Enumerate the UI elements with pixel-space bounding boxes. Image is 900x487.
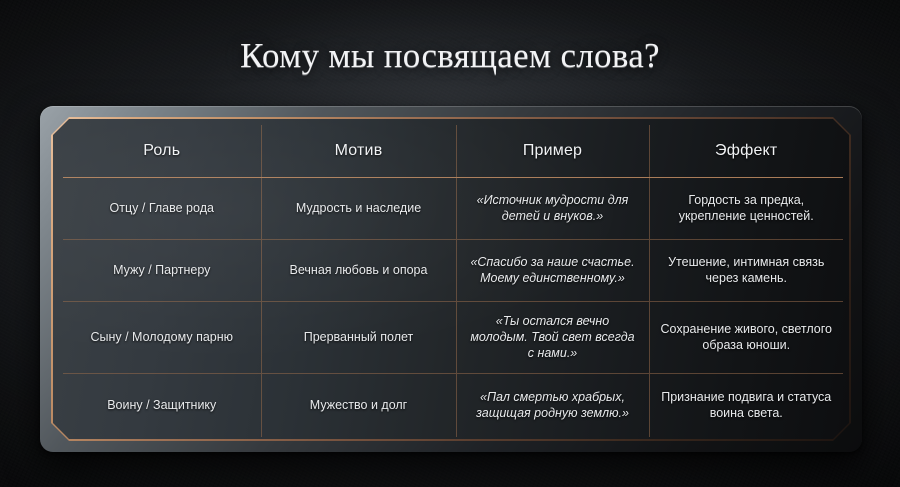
comparison-table: Роль Мотив Пример Эффект Отцу / Главе ро… <box>63 125 843 437</box>
cell-role: Мужу / Партнеру <box>63 239 261 301</box>
table-row: Отцу / Главе рода Мудрость и наследие «И… <box>63 177 843 239</box>
cell-motive: Прерванный полет <box>261 301 456 373</box>
cell-text: «Спасибо за наше счастье. Моему единстве… <box>467 254 639 286</box>
cell-role: Сыну / Молодому парню <box>63 301 261 373</box>
cell-text: Мужество и долг <box>272 397 446 413</box>
table-body: Отцу / Главе рода Мудрость и наследие «И… <box>63 177 843 437</box>
table-plaque-frame: Роль Мотив Пример Эффект Отцу / Главе ро… <box>40 106 862 452</box>
table-header-row: Роль Мотив Пример Эффект <box>63 125 843 177</box>
table-row: Воину / Защитнику Мужество и долг «Пал с… <box>63 373 843 437</box>
cell-example: «Источник мудрости для детей и внуков.» <box>456 177 649 239</box>
cell-role: Отцу / Главе рода <box>63 177 261 239</box>
column-header-example: Пример <box>456 125 649 177</box>
cell-text: Мудрость и наследие <box>272 200 446 216</box>
cell-motive: Мужество и долг <box>261 373 456 437</box>
cell-example: «Ты остался вечно молодым. Твой свет все… <box>456 301 649 373</box>
cell-example: «Спасибо за наше счастье. Моему единстве… <box>456 239 649 301</box>
cell-text: Гордость за предка, укрепление ценностей… <box>660 192 834 224</box>
cell-text: Сохранение живого, светлого образа юноши… <box>660 321 834 353</box>
cell-effect: Гордость за предка, укрепление ценностей… <box>649 177 843 239</box>
column-header-effect: Эффект <box>649 125 843 177</box>
page-title: Кому мы посвящаем слова? <box>0 34 900 78</box>
cell-text: Отцу / Главе рода <box>73 200 251 216</box>
cell-effect: Утешение, интимная связь через камень. <box>649 239 843 301</box>
cell-text: «Пал смертью храбрых, защищая родную зем… <box>467 389 639 421</box>
column-header-motive: Мотив <box>261 125 456 177</box>
column-header-role: Роль <box>63 125 261 177</box>
cell-effect: Признание подвига и статуса воина света. <box>649 373 843 437</box>
cell-text: Утешение, интимная связь через камень. <box>660 254 834 286</box>
cell-text: Признание подвига и статуса воина света. <box>660 389 834 421</box>
cell-text: Вечная любовь и опора <box>272 262 446 278</box>
cell-motive: Вечная любовь и опора <box>261 239 456 301</box>
cell-motive: Мудрость и наследие <box>261 177 456 239</box>
cell-text: «Ты остался вечно молодым. Твой свет все… <box>467 313 639 361</box>
table-row: Сыну / Молодому парню Прерванный полет «… <box>63 301 843 373</box>
cell-text: «Источник мудрости для детей и внуков.» <box>467 192 639 224</box>
cell-example: «Пал смертью храбрых, защищая родную зем… <box>456 373 649 437</box>
cell-role: Воину / Защитнику <box>63 373 261 437</box>
table-header: Роль Мотив Пример Эффект <box>63 125 843 177</box>
cell-text: Сыну / Молодому парню <box>73 329 251 345</box>
cell-effect: Сохранение живого, светлого образа юноши… <box>649 301 843 373</box>
copper-inner-border: Роль Мотив Пример Эффект Отцу / Главе ро… <box>51 117 851 441</box>
cell-text: Воину / Защитнику <box>73 397 251 413</box>
table-row: Мужу / Партнеру Вечная любовь и опора «С… <box>63 239 843 301</box>
cell-text: Мужу / Партнеру <box>73 262 251 278</box>
table-board: Роль Мотив Пример Эффект Отцу / Главе ро… <box>53 119 849 439</box>
cell-text: Прерванный полет <box>272 329 446 345</box>
